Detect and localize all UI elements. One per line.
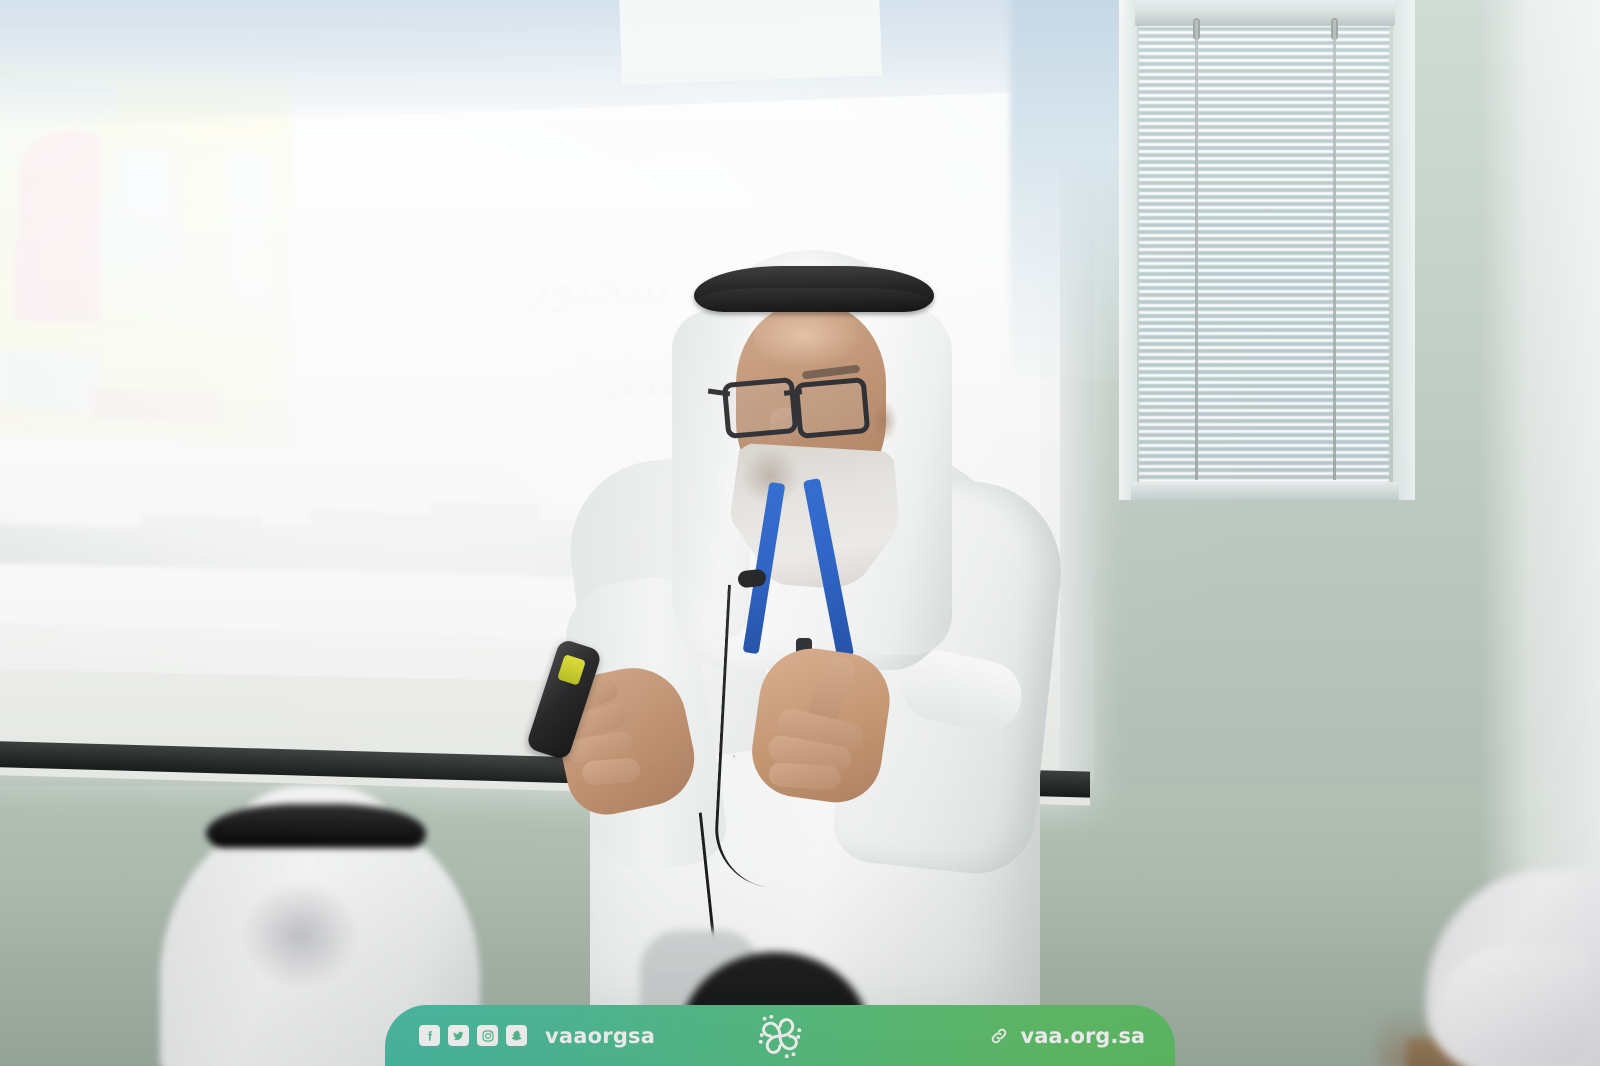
blinds-lift-cord[interactable] xyxy=(1333,20,1336,480)
blinds-valance xyxy=(1135,0,1395,26)
window-sill xyxy=(1131,482,1399,500)
instagram-icon[interactable] xyxy=(477,1025,498,1046)
window-frame-left xyxy=(1119,0,1137,500)
glasses-left-lens xyxy=(722,377,799,439)
audience-member-right xyxy=(1416,860,1600,1066)
igal-headband-lower xyxy=(698,288,930,310)
remote-button[interactable] xyxy=(557,654,586,686)
vaa-logo xyxy=(742,1008,818,1064)
speaker-figure xyxy=(520,250,1120,1010)
face-highlight xyxy=(754,308,864,368)
glasses-right-lens xyxy=(794,377,871,439)
blinds-tilt-wand[interactable] xyxy=(1195,20,1198,480)
website-url-label: vaa.org.sa xyxy=(1021,1024,1145,1048)
footer-social-group: vaaorgsa xyxy=(419,1024,655,1048)
twitter-icon[interactable] xyxy=(448,1025,469,1046)
footer-website-group[interactable]: vaa.org.sa xyxy=(987,1024,1145,1048)
wall-corner-strip xyxy=(1480,0,1600,1000)
window xyxy=(1135,0,1395,494)
footer-banner: vaaorgsa xyxy=(385,1005,1175,1066)
face-ear-shadow xyxy=(872,400,898,442)
social-handle-label: vaaorgsa xyxy=(545,1024,655,1048)
photo-canvas: سحنون معطولة xyxy=(0,0,1600,1066)
window-frame-right xyxy=(1393,0,1415,500)
window-blinds[interactable] xyxy=(1139,24,1389,486)
link-icon xyxy=(987,1024,1011,1048)
screen-top-band-highlight xyxy=(618,0,882,85)
facebook-icon[interactable] xyxy=(419,1025,440,1046)
snapchat-icon[interactable] xyxy=(506,1025,527,1046)
